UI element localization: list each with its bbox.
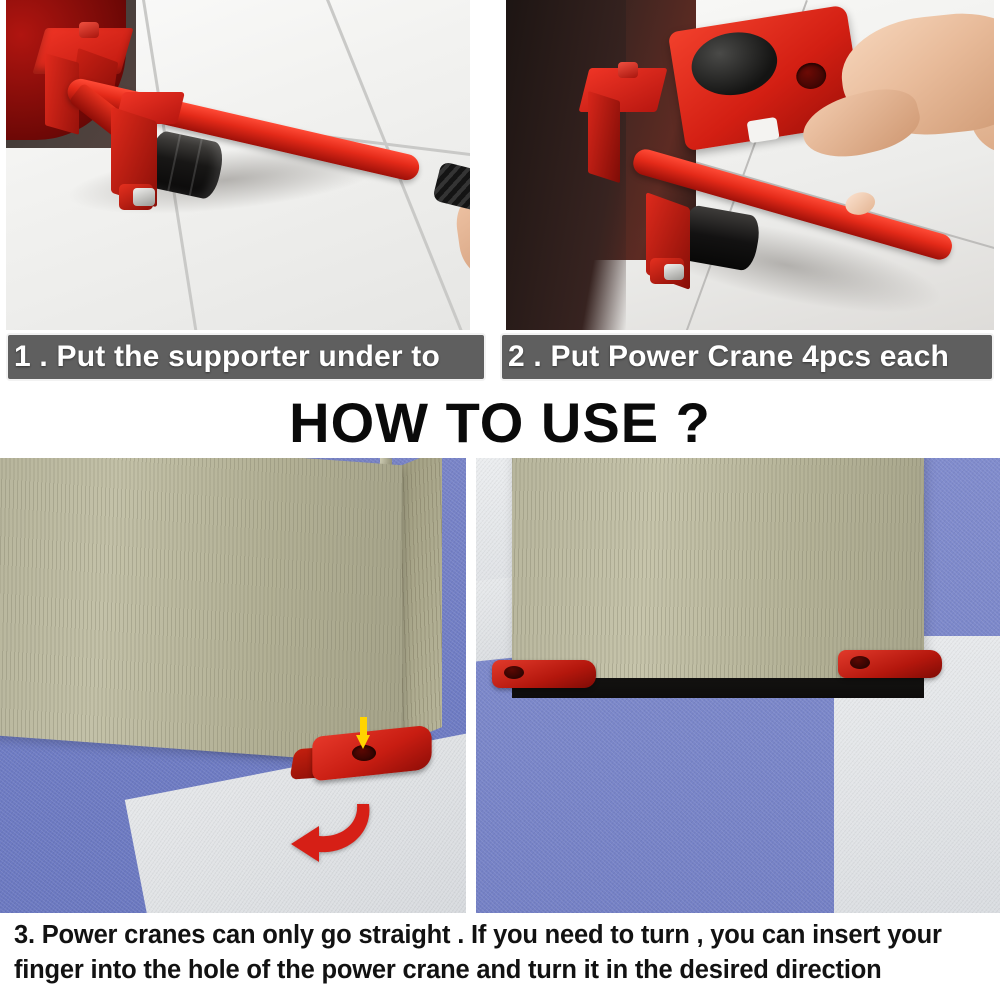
page-title: HOW TO USE ? [0, 389, 1000, 455]
power-crane-right [832, 644, 958, 692]
cabinet-front-panel [0, 458, 402, 765]
lifter-roller-assembly [646, 186, 756, 298]
power-crane-left [486, 654, 606, 700]
bracket-bolt [618, 62, 638, 78]
thumb [796, 81, 925, 168]
roller-wheel [678, 204, 763, 272]
step-3-caption-line-2: finger into the hole of the power crane … [14, 953, 986, 988]
arrow-head [356, 735, 370, 749]
step-2-caption-text: 2 . Put Power Crane 4pcs each [502, 340, 949, 374]
step-2-caption-bar: 2 . Put Power Crane 4pcs each [500, 333, 994, 381]
bracket-bolt [79, 22, 99, 38]
product-instruction-sheet: 1 . Put the supporter under to 2 . Put P… [0, 0, 1000, 994]
step-2-photo [506, 0, 994, 330]
crane-rubber-pad [687, 26, 782, 101]
step-1-caption-text: 1 . Put the supporter under to [8, 340, 440, 374]
hand [802, 6, 994, 186]
wheel-groove [189, 139, 203, 196]
crane-finger-hole [850, 656, 870, 669]
lifter-roller-assembly [111, 92, 216, 210]
page-title-text: HOW TO USE ? [289, 390, 711, 455]
step-3-caption-line-1: 3. Power cranes can only go straight . I… [14, 918, 986, 953]
step-3-photo-right [476, 458, 1000, 913]
step-3-left-content [0, 458, 466, 913]
bracket-wing [588, 91, 620, 183]
arrow-shaft [360, 717, 367, 737]
step-3-right-content [476, 458, 1000, 913]
step-3-caption: 3. Power cranes can only go straight . I… [0, 918, 1000, 994]
rotate-arrow-icon [265, 788, 385, 868]
step-2-photo-content [506, 0, 994, 330]
step-3-photo-left [0, 458, 466, 913]
roller-axle-bolt [664, 264, 684, 280]
crane-notch [747, 117, 780, 143]
step-1-photo-content [6, 0, 470, 330]
power-crane [300, 723, 442, 789]
crane-finger-hole [504, 666, 524, 679]
roller-axle-bolt [133, 188, 155, 206]
step-1-caption-bar: 1 . Put the supporter under to [6, 333, 486, 381]
step-1-photo [6, 0, 470, 330]
wheel-groove [167, 134, 181, 191]
down-arrow-icon [356, 717, 370, 751]
